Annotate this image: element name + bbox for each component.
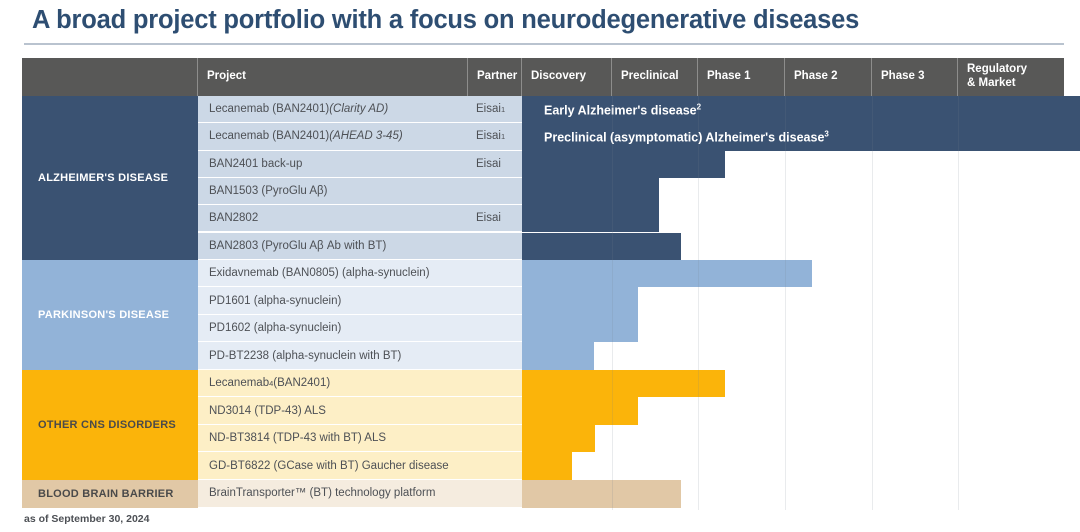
phase-bar-label: Early Alzheimer's disease2 <box>544 102 701 117</box>
partner-cell: Eisai1 <box>468 96 522 123</box>
phase-bar-track <box>522 315 1064 343</box>
project-name-cell: BAN2401 back-up <box>198 151 468 178</box>
project-name-cell: Lecanemab (BAN2401) (AHEAD 3-45) <box>198 123 468 150</box>
partner-cell: Eisai1 <box>468 123 522 150</box>
partner-cell: Eisai <box>468 205 522 232</box>
table-row[interactable]: ND-BT3814 (TDP-43 with BT) ALS <box>22 425 1064 453</box>
phase-bar-track <box>522 342 1064 370</box>
project-name-cell: PD1601 (alpha-synuclein) <box>198 287 468 315</box>
table-row[interactable]: Exidavnemab (BAN0805) (alpha-synuclein) <box>22 260 1064 288</box>
phase-bar-track <box>522 260 1064 288</box>
phase-bar-track: Preclinical (asymptomatic) Alzheimer's d… <box>522 123 1064 150</box>
table-row[interactable]: ND3014 (TDP-43) ALS <box>22 397 1064 425</box>
table-header-row: Project Partner Discovery Preclinical Ph… <box>22 58 1064 96</box>
phase-bar[interactable] <box>522 370 725 398</box>
table-row[interactable]: BAN2401 back-upEisai <box>22 151 1064 178</box>
page-title: A broad project portfolio with a focus o… <box>32 6 1062 35</box>
portfolio-table: Project Partner Discovery Preclinical Ph… <box>22 58 1064 510</box>
row-category-spacer <box>22 123 198 150</box>
row-category-spacer <box>22 397 198 425</box>
as-of-date: as of September 30, 2024 <box>24 513 149 525</box>
project-name-cell: BrainTransporter™ (BT) technology platfo… <box>198 480 468 508</box>
partner-cell <box>468 370 522 398</box>
project-name-cell: GD-BT6822 (GCase with BT) Gaucher diseas… <box>198 452 468 480</box>
project-name-cell: PD1602 (alpha-synuclein) <box>198 315 468 343</box>
table-row[interactable]: BAN2803 (PyroGlu Aβ Ab with BT) <box>22 233 1064 260</box>
project-name-cell: Lecanemab (BAN2401) (Clarity AD) <box>198 96 468 123</box>
phase-bar-track <box>522 178 1064 205</box>
partner-cell <box>468 315 522 343</box>
phase-bar-track <box>522 370 1064 398</box>
table-row[interactable]: GD-BT6822 (GCase with BT) Gaucher diseas… <box>22 452 1064 480</box>
project-name-cell: ND-BT3814 (TDP-43 with BT) ALS <box>198 425 468 453</box>
column-header-blank <box>22 58 198 96</box>
partner-cell <box>468 260 522 288</box>
table-row[interactable]: BAN2802Eisai <box>22 205 1064 232</box>
phase-bar-track <box>522 233 1064 260</box>
table-body: ALZHEIMER'S DISEASELecanemab (BAN2401) (… <box>22 96 1064 510</box>
partner-cell <box>468 287 522 315</box>
phase-bar-track: Early Alzheimer's disease2 <box>522 96 1064 123</box>
table-row[interactable]: BrainTransporter™ (BT) technology platfo… <box>22 480 1064 508</box>
phase-bar[interactable] <box>522 205 659 232</box>
project-name-cell: PD-BT2238 (alpha-synuclein with BT) <box>198 342 468 370</box>
column-header-regulatory-line1: Regulatory <box>967 63 1027 75</box>
table-row[interactable]: PD1602 (alpha-synuclein) <box>22 315 1064 343</box>
column-header-phase2[interactable]: Phase 2 <box>785 58 872 96</box>
project-name-cell: Exidavnemab (BAN0805) (alpha-synuclein) <box>198 260 468 288</box>
partner-cell <box>468 178 522 205</box>
project-name-cell: BAN2802 <box>198 205 468 232</box>
row-category-spacer <box>22 205 198 232</box>
phase-bar[interactable] <box>522 151 725 178</box>
row-category-spacer <box>22 178 198 205</box>
row-category-spacer <box>22 452 198 480</box>
slide-root: A broad project portfolio with a focus o… <box>0 0 1080 532</box>
title-divider <box>24 43 1064 45</box>
phase-bar[interactable] <box>522 452 572 480</box>
project-name-cell: BAN1503 (PyroGlu Aβ) <box>198 178 468 205</box>
column-header-regulatory[interactable]: Regulatory & Market <box>958 58 1064 96</box>
phase-bar-track <box>522 480 1064 508</box>
phase-bar[interactable] <box>522 178 659 205</box>
partner-cell <box>468 397 522 425</box>
phase-bar[interactable] <box>522 425 595 453</box>
phase-bar-track <box>522 425 1064 453</box>
column-header-regulatory-line2: & Market <box>967 77 1016 89</box>
table-row[interactable]: Lecanemab4 (BAN2401) <box>22 370 1064 398</box>
phase-bar-track <box>522 287 1064 315</box>
row-category-spacer <box>22 260 198 288</box>
project-name-cell: BAN2803 (PyroGlu Aβ Ab with BT) <box>198 233 468 260</box>
table-row[interactable]: PD1601 (alpha-synuclein) <box>22 287 1064 315</box>
column-header-preclinical[interactable]: Preclinical <box>612 58 698 96</box>
row-category-spacer <box>22 287 198 315</box>
partner-cell <box>468 233 522 260</box>
row-category-spacer <box>22 315 198 343</box>
phase-bar[interactable] <box>522 233 681 260</box>
table-row[interactable]: BAN1503 (PyroGlu Aβ) <box>22 178 1064 205</box>
phase-bar[interactable] <box>522 342 594 370</box>
phase-bar[interactable] <box>522 480 681 508</box>
phase-bar[interactable] <box>522 315 638 343</box>
phase-bar[interactable] <box>522 287 638 315</box>
partner-cell: Eisai <box>468 151 522 178</box>
row-category-spacer <box>22 342 198 370</box>
table-row[interactable]: Lecanemab (BAN2401) (AHEAD 3-45)Eisai1Pr… <box>22 123 1064 150</box>
row-category-spacer <box>22 480 198 508</box>
phase-bar-track <box>522 452 1064 480</box>
column-header-phase1[interactable]: Phase 1 <box>698 58 785 96</box>
partner-cell <box>468 480 522 508</box>
column-header-partner[interactable]: Partner <box>468 58 522 96</box>
partner-cell <box>468 425 522 453</box>
phase-bar-track <box>522 151 1064 178</box>
row-category-spacer <box>22 370 198 398</box>
column-header-discovery[interactable]: Discovery <box>522 58 612 96</box>
table-row[interactable]: Lecanemab (BAN2401) (Clarity AD)Eisai1Ea… <box>22 96 1064 123</box>
table-row[interactable]: PD-BT2238 (alpha-synuclein with BT) <box>22 342 1064 370</box>
row-category-spacer <box>22 233 198 260</box>
column-header-phase3[interactable]: Phase 3 <box>872 58 958 96</box>
row-category-spacer <box>22 425 198 453</box>
phase-bar[interactable] <box>522 260 812 288</box>
project-name-cell: ND3014 (TDP-43) ALS <box>198 397 468 425</box>
phase-bar-track <box>522 205 1064 232</box>
row-category-spacer <box>22 151 198 178</box>
partner-cell <box>468 342 522 370</box>
phase-bar-label: Preclinical (asymptomatic) Alzheimer's d… <box>544 129 829 144</box>
phase-bar[interactable] <box>522 397 638 425</box>
column-header-project[interactable]: Project <box>198 58 468 96</box>
row-category-spacer <box>22 96 198 123</box>
phase-bar-track <box>522 397 1064 425</box>
project-name-cell: Lecanemab4 (BAN2401) <box>198 370 468 398</box>
partner-cell <box>468 452 522 480</box>
